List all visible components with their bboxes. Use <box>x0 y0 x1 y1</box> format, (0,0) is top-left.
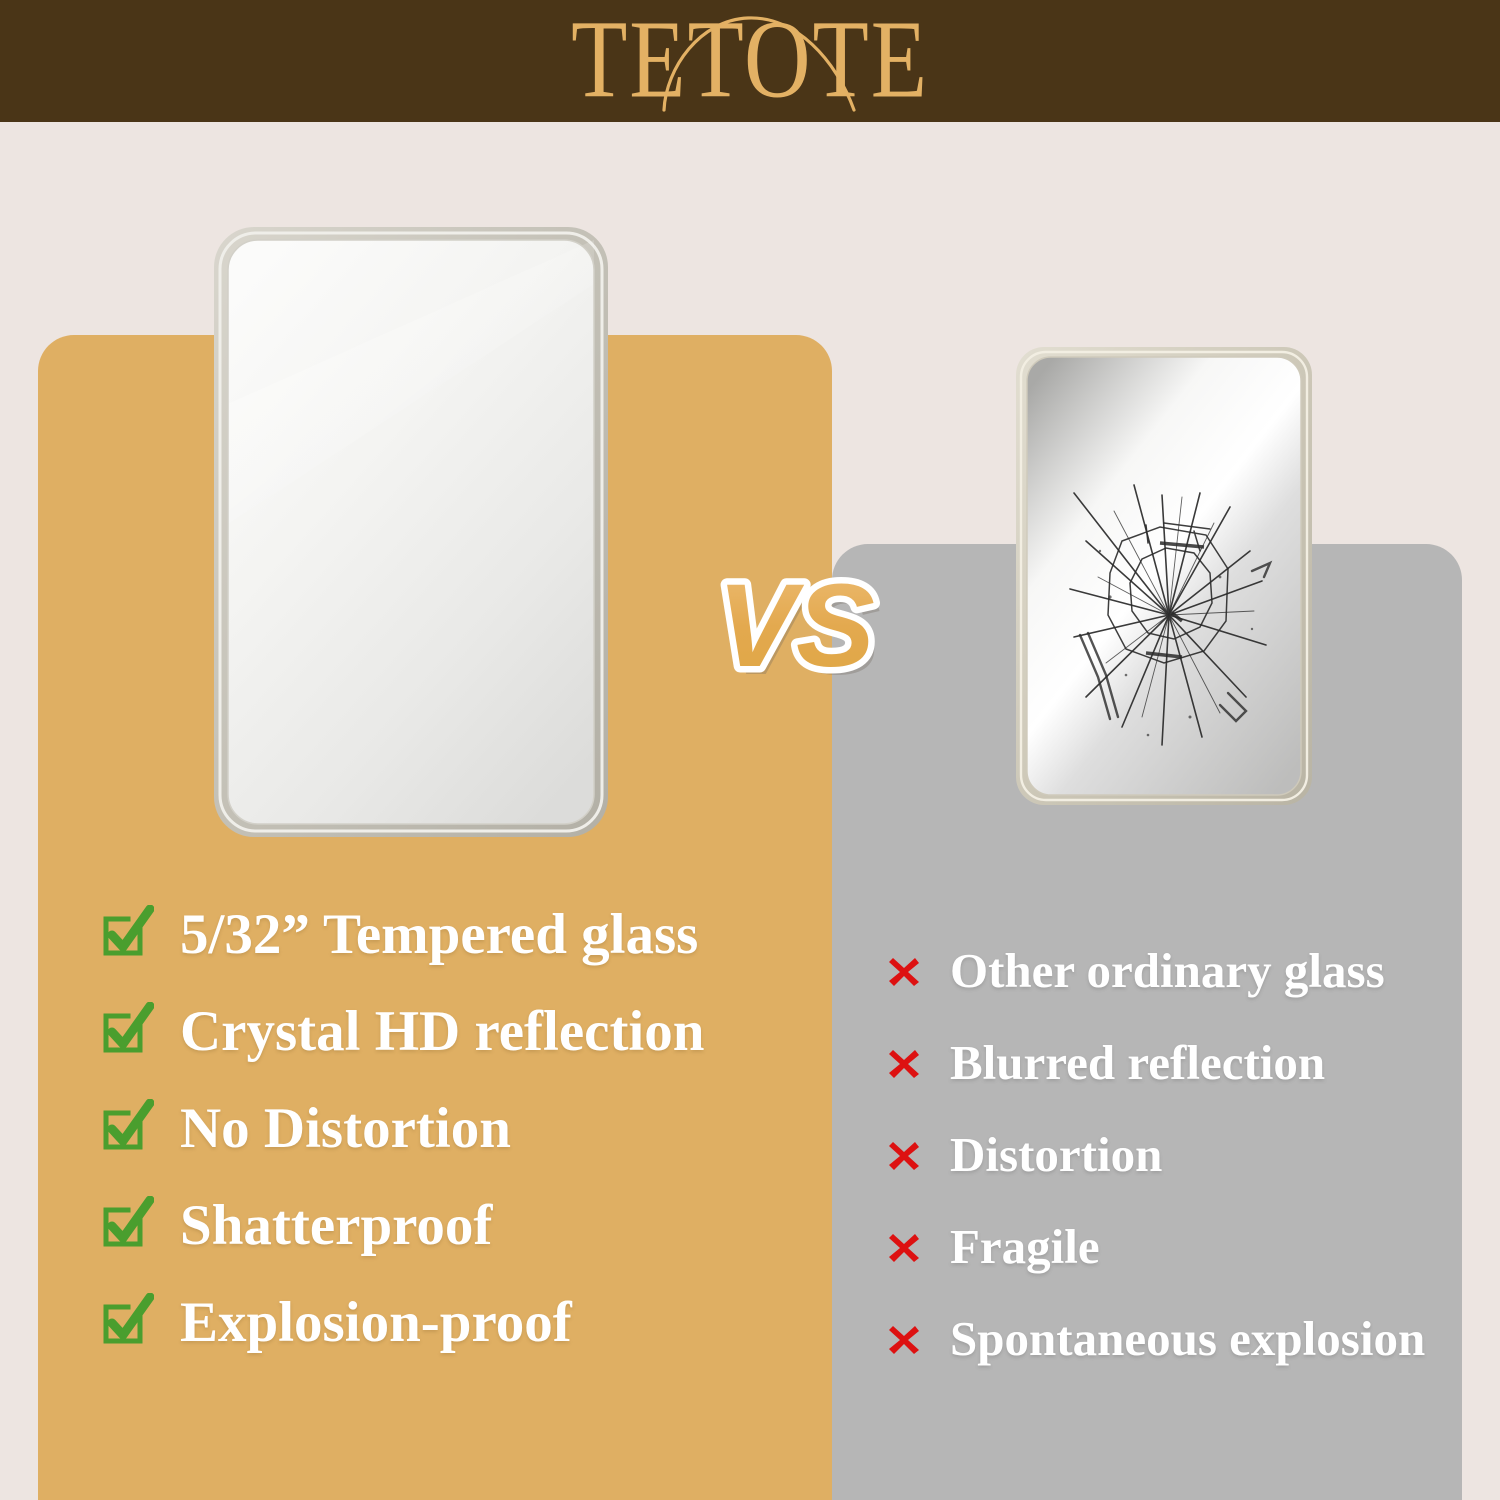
brand-header: TETOTE <box>0 0 1500 122</box>
list-item: Shatterproof <box>98 1196 798 1256</box>
list-item-label: Blurred reflection <box>950 1037 1325 1089</box>
list-item: Other ordinary glass <box>884 945 1464 997</box>
list-item-label: Spontaneous explosion <box>950 1313 1425 1365</box>
cross-icon <box>884 1227 924 1267</box>
list-item: Blurred reflection <box>884 1037 1464 1089</box>
brand-logo: TETOTE <box>580 6 920 116</box>
list-item: Crystal HD reflection <box>98 1002 798 1062</box>
list-item: Distortion <box>884 1129 1464 1181</box>
brand-logo-text: TETOTE <box>587 0 913 122</box>
list-item-label: Shatterproof <box>180 1196 492 1256</box>
list-item: Spontaneous explosion <box>884 1313 1464 1365</box>
check-box-icon <box>98 905 154 961</box>
list-item: No Distortion <box>98 1099 798 1159</box>
list-item-label: Fragile <box>950 1221 1100 1273</box>
list-item: Explosion-proof <box>98 1293 798 1353</box>
check-box-icon <box>98 1002 154 1058</box>
list-item: Fragile <box>884 1221 1464 1273</box>
cross-icon <box>884 1319 924 1359</box>
list-item-label: No Distortion <box>180 1099 511 1159</box>
check-box-icon <box>98 1099 154 1155</box>
list-item-label: 5/32” Tempered glass <box>180 905 698 965</box>
infographic-canvas: TETOTE <box>0 0 1500 1500</box>
bad-feature-list: Other ordinary glass Blurred reflection … <box>884 945 1464 1405</box>
good-feature-list: 5/32” Tempered glass Crystal HD reflecti… <box>98 905 798 1390</box>
list-item-label: Explosion-proof <box>180 1293 572 1353</box>
check-box-icon <box>98 1293 154 1349</box>
list-item-label: Distortion <box>950 1129 1162 1181</box>
list-item-label: Other ordinary glass <box>950 945 1385 997</box>
intact-mirror-image <box>211 224 611 840</box>
cross-icon <box>884 1043 924 1083</box>
cracked-mirror-image <box>1014 345 1314 807</box>
cross-icon <box>884 951 924 991</box>
list-item: 5/32” Tempered glass <box>98 905 798 965</box>
cross-icon <box>884 1135 924 1175</box>
list-item-label: Crystal HD reflection <box>180 1002 704 1062</box>
check-box-icon <box>98 1196 154 1252</box>
